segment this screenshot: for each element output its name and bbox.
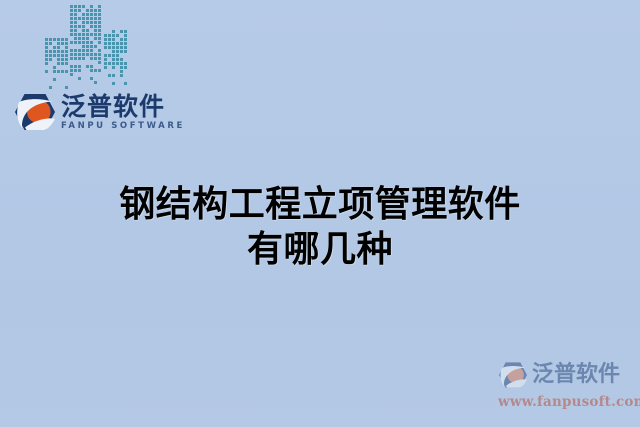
- watermark-logo-row: 泛普软件: [498, 357, 634, 393]
- center-tower: [70, 5, 103, 90]
- watermark: 泛普软件 www.fanpusoft.com: [498, 357, 634, 415]
- page-title-line-2: 有哪几种: [0, 227, 640, 272]
- fanpu-hexagon-logo-icon: [14, 92, 56, 132]
- pixel-skyline-icon: [40, 2, 132, 90]
- brand-name-cn: 泛普软件: [61, 94, 185, 119]
- right-tower: [104, 30, 130, 90]
- watermark-url: www.fanpusoft.com: [498, 394, 634, 410]
- fanpu-hexagon-logo-icon: [498, 361, 528, 389]
- brand-logo-text: 泛普软件 FANPU SOFTWARE: [61, 94, 185, 131]
- brand-logo: 泛普软件 FANPU SOFTWARE: [14, 88, 174, 136]
- page-title: 钢结构工程立项管理软件 有哪几种: [0, 182, 640, 272]
- page-title-line-1: 钢结构工程立项管理软件: [0, 182, 640, 227]
- watermark-brand-name: 泛普软件: [532, 364, 620, 386]
- promo-banner: 泛普软件 FANPU SOFTWARE 钢结构工程立项管理软件 有哪几种 泛普软…: [0, 0, 640, 427]
- left-tower: [45, 38, 71, 90]
- brand-name-en: FANPU SOFTWARE: [61, 122, 185, 131]
